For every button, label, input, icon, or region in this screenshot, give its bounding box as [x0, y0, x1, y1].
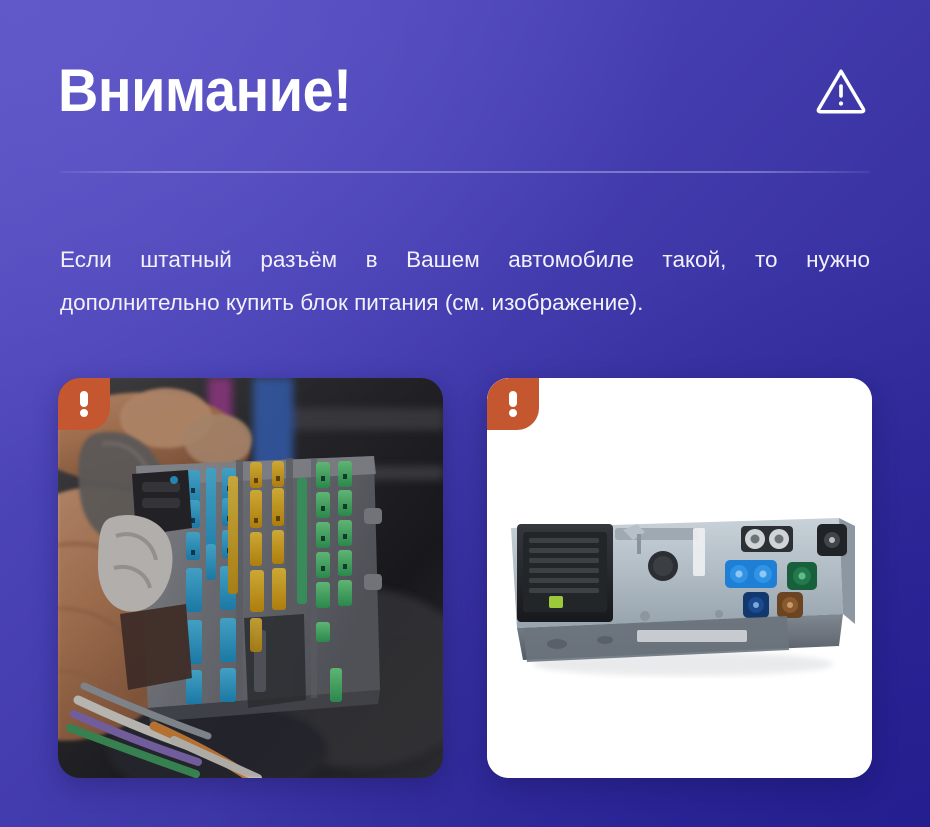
- warning-triangle-icon: [814, 64, 868, 118]
- body-line-1: Если штатный разъём в Вашем автомобиле т…: [60, 238, 870, 281]
- page-title: Внимание!: [58, 60, 351, 122]
- warning-slide: Внимание! Если штатный разъём в Вашем ав…: [0, 0, 930, 827]
- exclamation-badge: [58, 378, 110, 430]
- exclamation-icon: [509, 391, 517, 417]
- body-line-2: дополнительно купить блок питания (см. и…: [60, 281, 870, 324]
- connector-photo-image: [58, 378, 443, 778]
- image-card-row: [58, 378, 872, 778]
- power-supply-photo-image: [487, 378, 872, 778]
- body-copy: Если штатный разъём в Вашем автомобиле т…: [60, 238, 870, 324]
- header-divider: [60, 171, 870, 173]
- exclamation-icon: [80, 391, 88, 417]
- exclamation-badge: [487, 378, 539, 430]
- header: Внимание!: [58, 48, 872, 134]
- card-connector-photo[interactable]: [58, 378, 443, 778]
- card-power-supply-photo[interactable]: [487, 378, 872, 778]
